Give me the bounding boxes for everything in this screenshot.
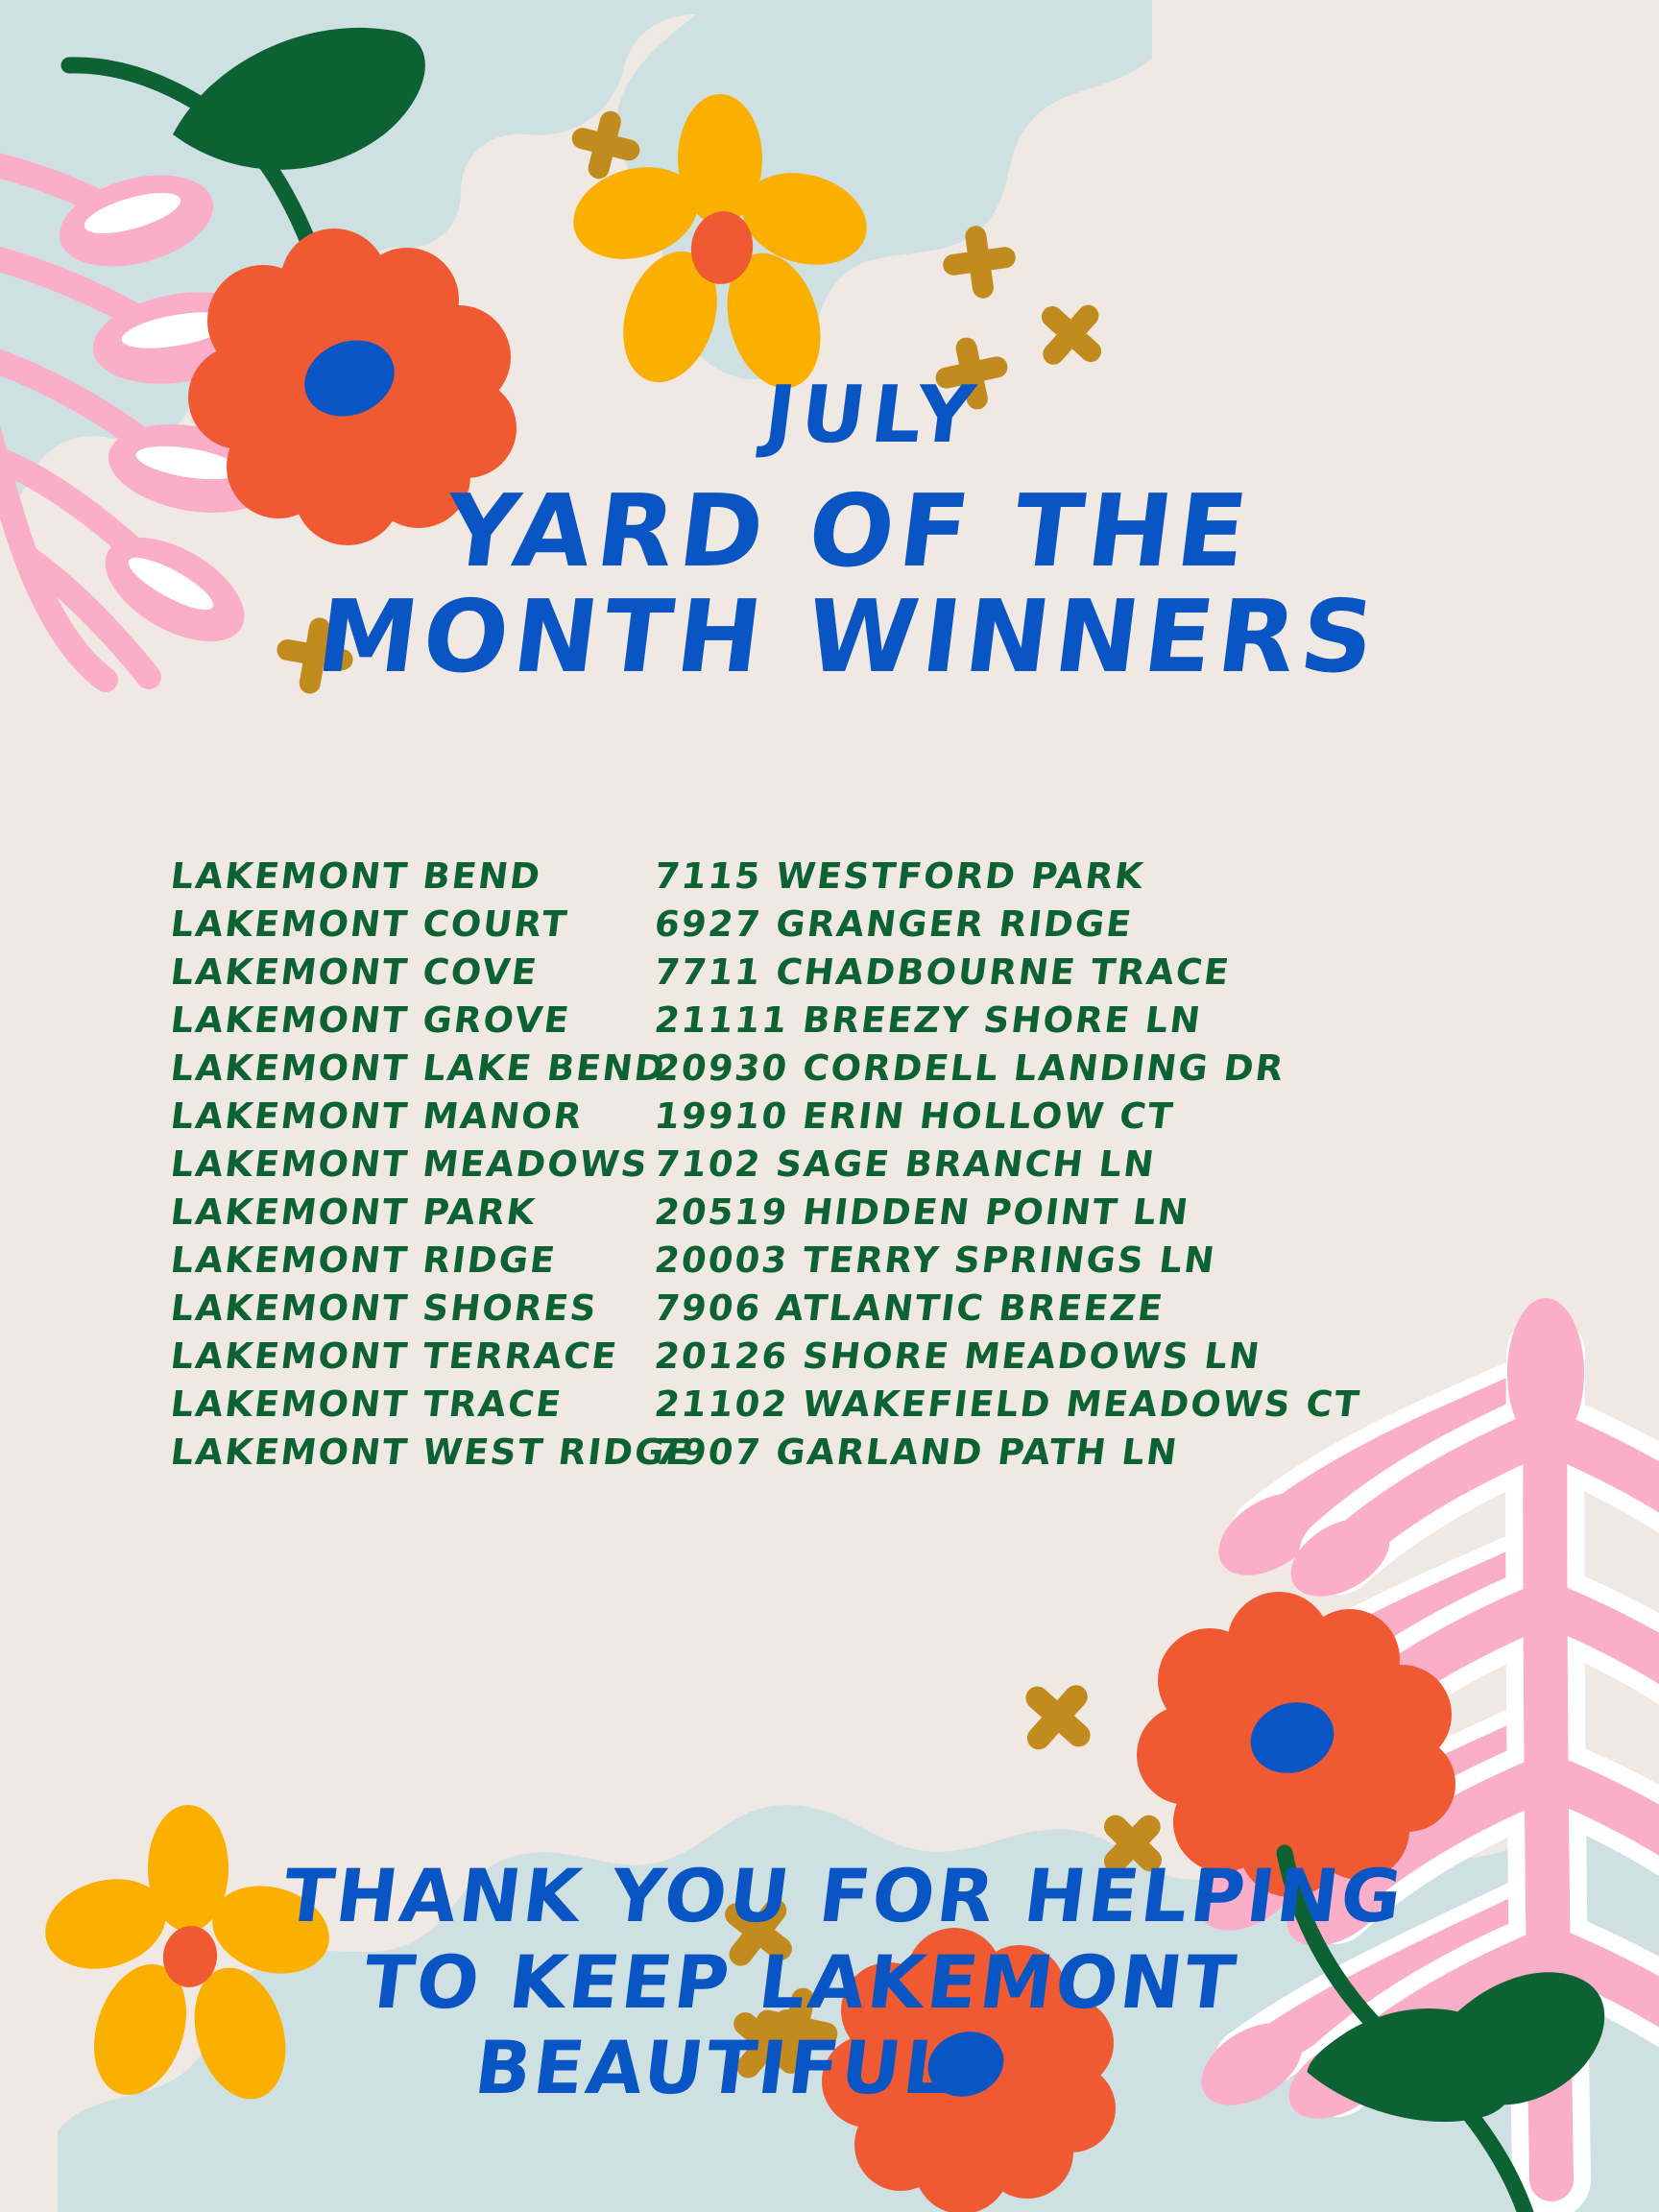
address-row: 7711 CHADBOURNE TRACE: [652, 949, 1368, 997]
address-row: 20126 SHORE MEADOWS LN: [652, 1333, 1368, 1381]
street-row: LAKEMONT RIDGE: [168, 1237, 602, 1285]
address-row: 7115 WESTFORD PARK: [652, 853, 1368, 901]
street-row: LAKEMONT COVE: [168, 949, 602, 997]
pale-blue-blob-top-right: [614, 0, 1152, 432]
address-row: 19910 ERIN HOLLOW CT: [652, 1093, 1368, 1141]
address-row: 7906 ATLANTIC BREEZE: [652, 1285, 1368, 1333]
address-row: 20519 HIDDEN POINT LN: [652, 1189, 1368, 1237]
month-label: JULY: [82, 376, 1659, 455]
dark-green-leaf-top: [29, 10, 432, 298]
address-row: 20003 TERRY SPRINGS LN: [652, 1237, 1368, 1285]
address-row: 21102 WAKEFIELD MEADOWS CT: [652, 1381, 1368, 1429]
street-row: LAKEMONT COURT: [168, 901, 602, 949]
yellow-daisy-top: [576, 106, 864, 413]
street-row: LAKEMONT TRACE: [168, 1381, 602, 1429]
address-row: 6927 GRANGER RIDGE: [652, 901, 1368, 949]
footer-line-2: TO KEEP LAKEMONT: [0, 1939, 1659, 2026]
footer-line-1: THANK YOU FOR HELPING: [23, 1853, 1659, 1939]
street-row: LAKEMONT BEND: [168, 853, 602, 901]
address-row: 20930 CORDELL LANDING DR: [652, 1045, 1368, 1093]
footer-block: THANK YOU FOR HELPING TO KEEP LAKEMONT B…: [0, 1853, 1659, 2111]
headline-block: JULY YARD OF THE MONTH WINNERS: [0, 376, 1659, 687]
street-row: LAKEMONT GROVE: [168, 997, 602, 1045]
orange-poppy-bottom-right: [1141, 1584, 1457, 1891]
street-row: LAKEMONT MANOR: [168, 1093, 602, 1141]
street-row: LAKEMONT WEST RIDGE: [168, 1429, 602, 1477]
address-row: 21111 BREEZY SHORE LN: [652, 997, 1368, 1045]
title-line-1: YARD OF THE: [32, 480, 1659, 582]
title-line-2: MONTH WINNERS: [32, 586, 1659, 687]
street-row: LAKEMONT LAKE BEND: [168, 1045, 602, 1093]
address-row: 7102 SAGE BRANCH LN: [652, 1141, 1368, 1189]
street-row: LAKEMONT MEADOWS: [168, 1141, 602, 1189]
addresses-column: 7115 WESTFORD PARK 6927 GRANGER RIDGE 77…: [655, 853, 1365, 1477]
winners-list: LAKEMONT BEND LAKEMONT COURT LAKEMONT CO…: [171, 853, 1365, 1477]
streets-column: LAKEMONT BEND LAKEMONT COURT LAKEMONT CO…: [171, 853, 599, 1477]
address-row: 7907 GARLAND PATH LN: [652, 1429, 1368, 1477]
poster-canvas: JULY YARD OF THE MONTH WINNERS LAKEMONT …: [0, 0, 1659, 2212]
street-row: LAKEMONT PARK: [168, 1189, 602, 1237]
footer-line-3: BEAUTIFUL: [0, 2025, 1659, 2111]
street-row: LAKEMONT SHORES: [168, 1285, 602, 1333]
street-row: LAKEMONT TERRACE: [168, 1333, 602, 1381]
